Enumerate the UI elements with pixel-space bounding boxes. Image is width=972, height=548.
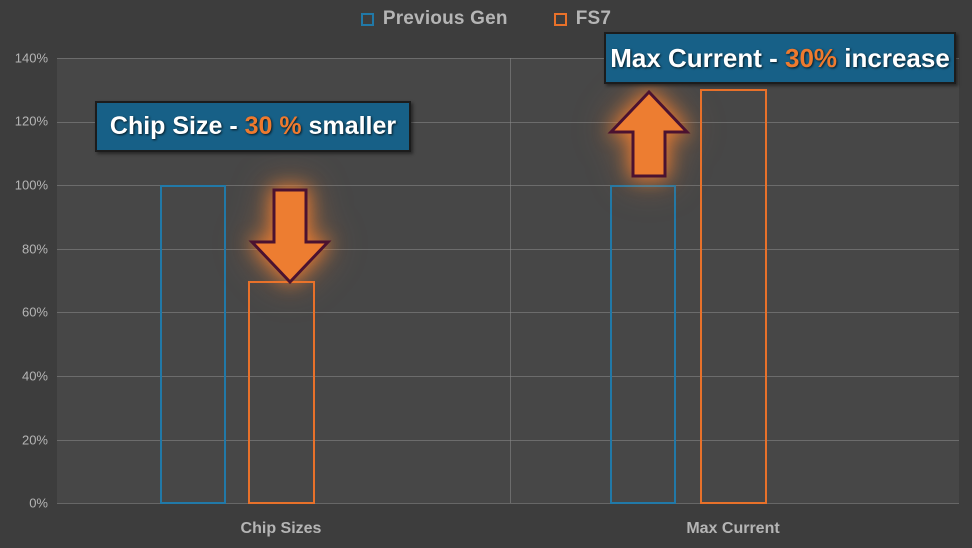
y-tick-20: 20%	[0, 433, 48, 448]
category-divider	[510, 58, 511, 503]
y-tick-0: 0%	[0, 496, 48, 511]
y-axis: 140% 120% 100% 80% 60% 40% 20% 0%	[0, 0, 57, 548]
x-label-chip-sizes: Chip Sizes	[241, 520, 322, 538]
callout-max-current-highlight: 30%	[785, 43, 837, 73]
bar-chip-sizes-fs7[interactable]	[248, 281, 315, 504]
y-tick-60: 60%	[0, 305, 48, 320]
callout-chip-size[interactable]: Chip Size - 30 % smaller	[95, 101, 411, 152]
square-outline-icon	[554, 13, 567, 26]
callout-max-current-text-before: Max Current -	[610, 43, 785, 73]
callout-max-current[interactable]: Max Current - 30% increase	[604, 32, 956, 84]
callout-chip-size-text: Chip Size - 30 % smaller	[110, 112, 396, 141]
callout-max-current-text-after: increase	[837, 43, 950, 73]
callout-chip-size-text-before: Chip Size -	[110, 112, 245, 140]
y-tick-80: 80%	[0, 242, 48, 257]
y-tick-120: 120%	[0, 114, 48, 129]
y-tick-100: 100%	[0, 178, 48, 193]
callout-chip-size-highlight: 30 %	[245, 112, 302, 140]
x-label-max-current: Max Current	[686, 520, 779, 538]
callout-max-current-text: Max Current - 30% increase	[610, 43, 950, 74]
arrow-up-icon	[607, 88, 691, 180]
legend-item-previous-gen[interactable]: Previous Gen	[361, 8, 508, 30]
legend-label-fs7: FS7	[576, 8, 611, 30]
square-outline-icon	[361, 13, 374, 26]
y-tick-140: 140%	[0, 51, 48, 66]
legend-label-previous-gen: Previous Gen	[383, 8, 508, 30]
chart-container: Previous Gen FS7 140% 120% 100% 80% 60% …	[0, 0, 972, 548]
bar-chip-sizes-previous-gen[interactable]	[160, 185, 226, 504]
legend-item-fs7[interactable]: FS7	[554, 8, 611, 30]
bar-max-current-previous-gen[interactable]	[610, 185, 676, 504]
bar-max-current-fs7[interactable]	[700, 89, 767, 504]
y-tick-40: 40%	[0, 369, 48, 384]
arrow-down-icon	[248, 186, 332, 286]
callout-chip-size-text-after: smaller	[302, 112, 397, 140]
